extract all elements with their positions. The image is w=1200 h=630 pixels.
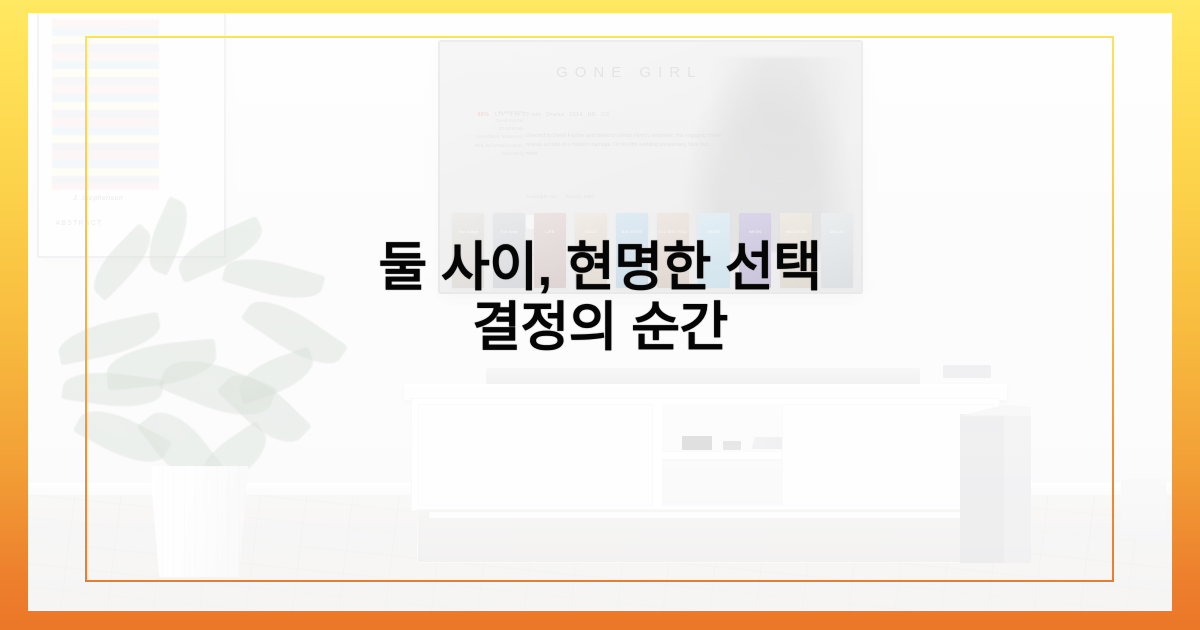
poster-thumbnail: The Drop [493,213,524,288]
tv-stand-body [411,398,1000,511]
tv-screen: GONE GIRL 88% 17+ 2 hr 29 min Drama 2014… [440,42,862,292]
living-room-scene: J. Stephenson ABSTRACT [28,13,1172,611]
poster-thumbnail: BIG EYES [616,213,647,288]
poster-label: BIG EYES [622,229,642,234]
tv-credits: DIRECTOR David Fincher STARRING Ben Affl… [465,109,524,158]
houseplant [51,210,360,581]
tv-poster-row: The JudgeThe DropLIFEGOLDBIG EYESI'LL SE… [452,213,852,288]
poster-label: LIFE [545,229,554,234]
art-stripes [52,19,159,190]
plant-pot [140,466,257,577]
background-photo: J. Stephenson ABSTRACT [28,13,1172,611]
tv-director-name: David Fincher [496,118,524,123]
thumbnail-canvas: J. Stephenson ABSTRACT [0,0,1200,630]
poster-label: VACATION [785,229,806,234]
tv-available-services: iTunes, HBO [565,194,596,199]
speaker-front [960,414,1004,563]
tv-starring-names: Ben Affleck, Rosamund Pike, Neil Patrick… [474,134,524,156]
tv-badge-cc: CC [601,112,610,118]
poster-label: HOME [708,229,721,234]
tv-year: 2014 [569,112,583,118]
poster-thumbnail: The Judge [452,213,483,288]
tv-movie-title: GONE GIRL [477,64,781,81]
tv-genre: Drama [546,112,564,118]
tv-stand-door-left [418,404,653,506]
poster-thumbnail: NEON [739,213,770,288]
tv-starring-label: STARRING [465,125,524,133]
poster-thumbnail: LIFE [534,213,565,288]
soundbar [486,368,921,384]
poster-thumbnail: VACATION [780,213,811,288]
poster-label: NEON [749,229,761,234]
poster-label: I'LL SEE YOU [659,229,686,234]
poster-thumbnail: HOME [698,213,729,288]
art-signature: J. Stephenson [72,195,123,202]
tv-available-label: Available On [526,194,557,199]
av-device-1 [682,436,711,450]
tv-stand [411,384,1000,563]
tv-description: Directed by David Fincher and based on G… [526,132,724,159]
tv-badge-hd: HD [588,112,597,118]
poster-label: GOLD [585,229,597,234]
poster-label: MAGIC [830,229,844,234]
poster-thumbnail: GOLD [575,213,606,288]
speaker-side [1004,414,1031,563]
tv-availability: Available On iTunes, HBO [526,194,595,199]
av-device-2 [723,441,741,450]
remote-control [943,365,991,378]
speaker-top [960,405,1031,416]
poster-thumbnail: MAGIC [821,213,852,288]
floor-speaker [960,405,1031,563]
poster-label: The Judge [458,229,479,234]
television: GONE GIRL 88% 17+ 2 hr 29 min Drama 2014… [438,40,864,294]
tv-stand-lip [429,512,983,518]
right-cabinet-sliver [1121,479,1167,539]
poster-thumbnail: I'LL SEE YOU [657,213,688,288]
poster-label: The Drop [500,229,518,234]
tv-director-label: DIRECTOR [465,109,524,117]
